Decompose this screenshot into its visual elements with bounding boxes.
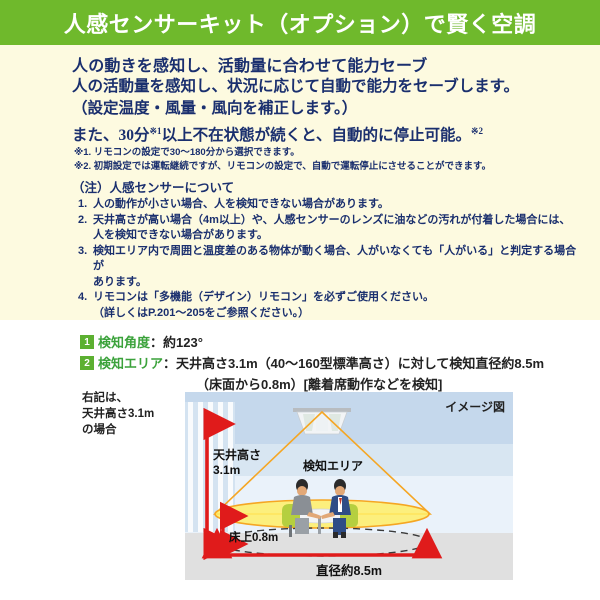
spec-value-1: 約123° (163, 335, 203, 350)
note-item: 1. 人の動作が小さい場合、人を検知できない場合があります。 (78, 197, 578, 213)
lead-line-3-b: 以上不在状態が続くと、自動的に停止可能。 (162, 127, 471, 144)
spec-label-1: 検知角度 (98, 335, 150, 350)
lead-line-3: また、30分※1以上不在状態が続くと、自動的に停止可能。※2 (72, 120, 572, 147)
note-body: 人の動作が小さい場合、人を検知できない場合があります。 (93, 197, 578, 213)
note-body: 天井高さが高い場合（4m以上）や、人感センサーのレンズに油などの汚れが付着した場… (93, 213, 578, 244)
notes-title: （注）人感センサーについて (72, 177, 234, 196)
note-line: 人を検知できない場合があります。 (93, 228, 578, 244)
lead-line-1: 人の活動量を感知し、状況に応じて自動で能力をセーブします。 (72, 76, 572, 98)
spec-text-2: 検知エリア：天井高さ3.1m（40〜160型標準高さ）に対して検知直径約8.5m (98, 353, 544, 373)
spec-row-detection-area: 2 検知エリア：天井高さ3.1m（40〜160型標準高さ）に対して検知直径約8.… (80, 353, 544, 373)
lead-paragraph: 人の活動量を感知し、状況に応じて自動で能力をセーブします。 （設定温度・風量・風… (72, 76, 572, 147)
illustration-caption: 右記は、 天井高さ3.1m の場合 (82, 390, 154, 438)
note-body: 検知エリア内で周囲と温度差のある物体が動く場合、人がいなくても「人がいる」と判定… (93, 244, 578, 291)
caption-line-3: の場合 (82, 424, 117, 436)
illustration-vector-layer (185, 392, 513, 580)
note-line: 検知エリア内で周囲と温度差のある物体が動く場合、人がいなくても「人がいる」と判定… (93, 244, 578, 275)
note-item: 2. 天井高さが高い場合（4m以上）や、人感センサーのレンズに油などの汚れが付着… (78, 213, 578, 244)
spec-label-2: 検知エリア (98, 356, 163, 371)
notes-list: 1. 人の動作が小さい場合、人を検知できない場合があります。 2. 天井高さが高… (78, 197, 578, 337)
lead-line-2: （設定温度・風量・風向を補正します。） (72, 98, 572, 120)
ceiling-height-label: 天井高さ 3.1m (213, 448, 261, 478)
caption-line-2: 天井高さ3.1m (82, 408, 154, 420)
ceiling-height-value: 3.1m (213, 463, 240, 477)
spec-badge-1: 1 (80, 335, 94, 349)
note-line: 天井高さが高い場合（4m以上）や、人感センサーのレンズに油などの汚れが付着した場… (93, 213, 578, 229)
footnote-ref-2: ※2 (471, 126, 483, 136)
spec-colon-2: ： (163, 356, 176, 371)
diameter-label: 直径約8.5m (185, 560, 513, 579)
footnote-1: ※1. リモコンの設定で30〜180分から選択できます。 (74, 146, 574, 160)
note-item: 3. 検知エリア内で周囲と温度差のある物体が動く場合、人がいなくても「人がいる」… (78, 244, 578, 291)
spec-list: 1 検知角度：約123° 2 検知エリア：天井高さ3.1m（40〜160型標準高… (80, 332, 544, 393)
footnotes: ※1. リモコンの設定で30〜180分から選択できます。 ※2. 初期設定では運… (74, 146, 574, 173)
page-header: 人感センサーキット（オプション）で賢く空調 (0, 0, 600, 45)
note-line: リモコンは「多機能（デザイン）リモコン」を必ずご使用ください。 (93, 290, 578, 306)
image-note-label: イメージ図 (445, 398, 505, 415)
spec-colon-1: ： (150, 335, 163, 350)
note-line: あります。 (93, 275, 578, 291)
spec-section: 1 検知角度：約123° 2 検知エリア：天井高さ3.1m（40〜160型標準高… (0, 320, 600, 600)
footnote-2: ※2. 初期設定では運転継続ですが、リモコンの設定で、自動で運転停止にさせること… (74, 160, 574, 174)
note-number: 3. (78, 244, 93, 291)
caption-line-1: 右記は、 (82, 392, 128, 404)
footnote-ref-1: ※1 (150, 126, 162, 136)
spec-value-2: 天井高さ3.1m（40〜160型標準高さ）に対して検知直径約8.5m (176, 356, 544, 371)
spec-row-detection-angle: 1 検知角度：約123° (80, 332, 544, 352)
detect-area-label: 検知エリア (303, 457, 363, 474)
sensor-coverage-illustration: イメージ図 天井高さ 3.1m 検知エリア 床上0.8m 直径約8.5m (185, 392, 513, 580)
intro-section: 人の動きを感知し、活動量に合わせて能力セーブ 人の活動量を感知し、状況に応じて自… (0, 45, 600, 320)
lead-line-3-a: また、30分 (72, 127, 150, 144)
ceiling-height-text: 天井高さ (213, 448, 261, 462)
note-number: 1. (78, 197, 93, 213)
page-title: 人感センサーキット（オプション）で賢く空調 (64, 7, 537, 39)
note-line: （詳しくはP.201〜205をご参照ください。） (93, 306, 578, 322)
spec-text-1: 検知角度：約123° (98, 332, 203, 352)
floor-height-label: 床上0.8m (229, 529, 278, 545)
note-number: 2. (78, 213, 93, 244)
spec-badge-2: 2 (80, 356, 94, 370)
note-line: 人の動作が小さい場合、人を検知できない場合があります。 (93, 197, 578, 213)
lead-heading: 人の動きを感知し、活動量に合わせて能力セーブ (72, 52, 427, 76)
